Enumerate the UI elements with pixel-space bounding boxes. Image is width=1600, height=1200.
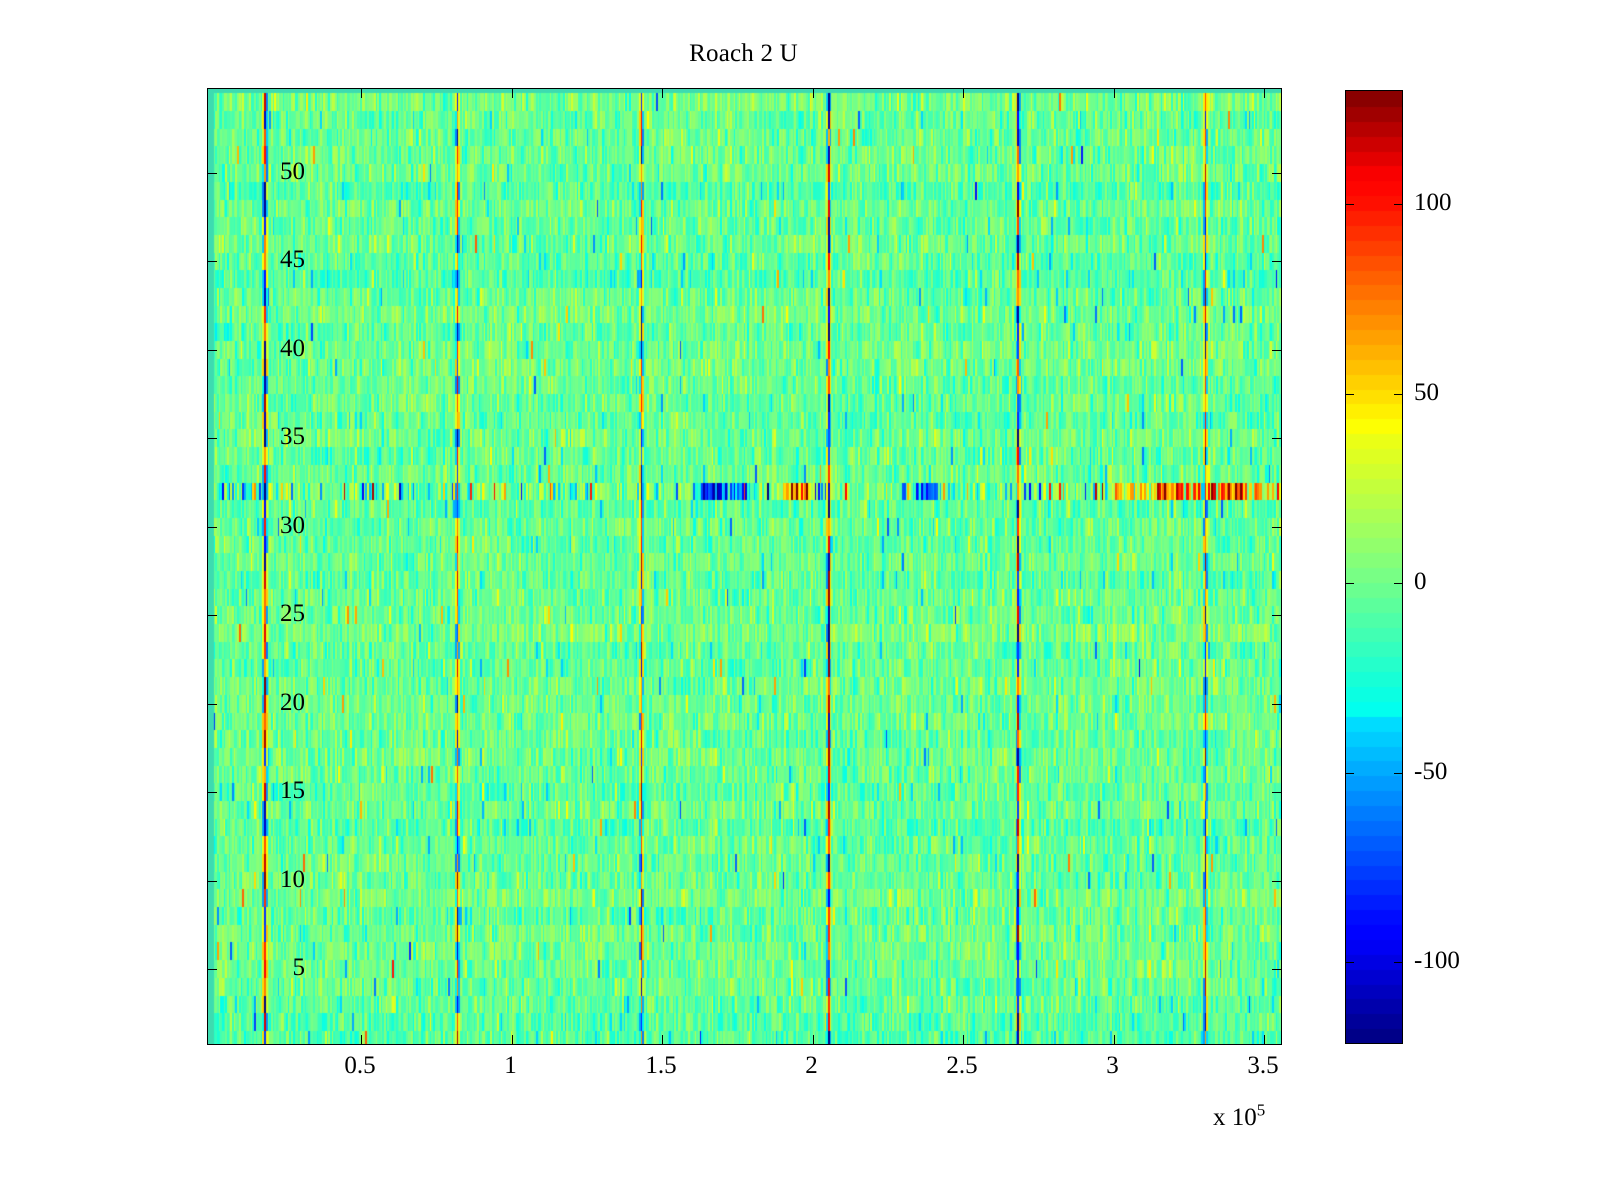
y-axis-tick-mark-right xyxy=(1272,704,1281,705)
x-axis-tick-mark-top xyxy=(512,89,513,98)
x-axis-tick-label: 3.5 xyxy=(1247,1052,1278,1080)
x-axis-tick-mark-top xyxy=(963,89,964,98)
colorbar-tick-label: -100 xyxy=(1414,947,1460,975)
colorbar-tick-mark-right xyxy=(1394,962,1402,963)
figure-window: Roach 2 U x 105 51015202530354045500.511… xyxy=(0,0,1600,1200)
x-axis-tick-mark xyxy=(1264,1035,1265,1044)
colorbar-tick-label: 50 xyxy=(1414,379,1439,407)
x-axis-tick-mark-top xyxy=(1114,89,1115,98)
x-axis-tick-mark xyxy=(361,1035,362,1044)
colorbar-tick-mark xyxy=(1346,962,1354,963)
x-axis-tick-mark xyxy=(813,1035,814,1044)
y-axis-tick-mark-right xyxy=(1272,527,1281,528)
colorbar-tick-mark-right xyxy=(1394,394,1402,395)
x-axis-tick-mark-top xyxy=(361,89,362,98)
heatmap-axes[interactable] xyxy=(207,88,1282,1045)
y-axis-tick-mark xyxy=(208,704,217,705)
x-axis-tick-label: 3 xyxy=(1106,1052,1119,1080)
y-axis-tick-mark xyxy=(208,527,217,528)
colorbar-tick-mark-right xyxy=(1394,583,1402,584)
colorbar-tick-mark-right xyxy=(1394,204,1402,205)
x-axis-tick-mark xyxy=(963,1035,964,1044)
y-axis-tick-mark-right xyxy=(1272,969,1281,970)
y-axis-tick-mark xyxy=(208,969,217,970)
colorbar-tick-mark xyxy=(1346,773,1354,774)
colorbar-tick-mark-right xyxy=(1394,773,1402,774)
x-axis-tick-mark-top xyxy=(813,89,814,98)
y-axis-tick-label: 40 xyxy=(280,335,305,363)
x-axis-tick-label: 1.5 xyxy=(645,1052,676,1080)
heatmap-image[interactable] xyxy=(208,89,1281,1044)
colorbar-tick-mark xyxy=(1346,204,1354,205)
colorbar-tick-mark xyxy=(1346,583,1354,584)
colorbar-tick-label: 0 xyxy=(1414,568,1427,596)
y-axis-tick-label: 25 xyxy=(280,600,305,628)
y-axis-tick-mark xyxy=(208,615,217,616)
y-axis-tick-mark xyxy=(208,881,217,882)
colorbar-tick-mark xyxy=(1346,394,1354,395)
y-axis-tick-mark xyxy=(208,350,217,351)
x-axis-tick-label: 2 xyxy=(805,1052,818,1080)
y-axis-tick-mark xyxy=(208,261,217,262)
y-axis-tick-mark-right xyxy=(1272,792,1281,793)
y-axis-tick-label: 10 xyxy=(280,866,305,894)
y-axis-tick-label: 35 xyxy=(280,423,305,451)
y-axis-tick-label: 30 xyxy=(280,512,305,540)
y-axis-tick-mark xyxy=(208,438,217,439)
x-axis-exponent-label: x 105 xyxy=(1213,1104,1265,1132)
y-axis-tick-label: 50 xyxy=(280,158,305,186)
x-axis-tick-mark xyxy=(662,1035,663,1044)
y-axis-tick-label: 15 xyxy=(280,777,305,805)
y-axis-tick-mark xyxy=(208,792,217,793)
page-title: Roach 2 U xyxy=(0,40,1487,68)
x-axis-tick-label: 0.5 xyxy=(344,1052,375,1080)
x-axis-exponent-power: 5 xyxy=(1257,1101,1266,1120)
y-axis-tick-mark-right xyxy=(1272,173,1281,174)
x-axis-tick-label: 1 xyxy=(504,1052,517,1080)
colorbar-tick-label: 100 xyxy=(1414,189,1452,217)
y-axis-tick-mark-right xyxy=(1272,881,1281,882)
y-axis-tick-label: 20 xyxy=(280,689,305,717)
y-axis-tick-mark-right xyxy=(1272,350,1281,351)
x-axis-tick-mark-top xyxy=(1264,89,1265,98)
colorbar-gradient xyxy=(1346,91,1402,1043)
y-axis-tick-label: 5 xyxy=(293,954,306,982)
x-axis-tick-label: 2.5 xyxy=(946,1052,977,1080)
y-axis-tick-mark-right xyxy=(1272,615,1281,616)
y-axis-tick-mark-right xyxy=(1272,438,1281,439)
y-axis-tick-label: 45 xyxy=(280,246,305,274)
colorbar-tick-label: -50 xyxy=(1414,758,1447,786)
x-axis-tick-mark-top xyxy=(662,89,663,98)
colorbar[interactable] xyxy=(1345,90,1403,1044)
x-axis-exponent-mantissa: x 10 xyxy=(1213,1104,1257,1131)
x-axis-tick-mark xyxy=(1114,1035,1115,1044)
y-axis-tick-mark-right xyxy=(1272,261,1281,262)
x-axis-tick-mark xyxy=(512,1035,513,1044)
y-axis-tick-mark xyxy=(208,173,217,174)
